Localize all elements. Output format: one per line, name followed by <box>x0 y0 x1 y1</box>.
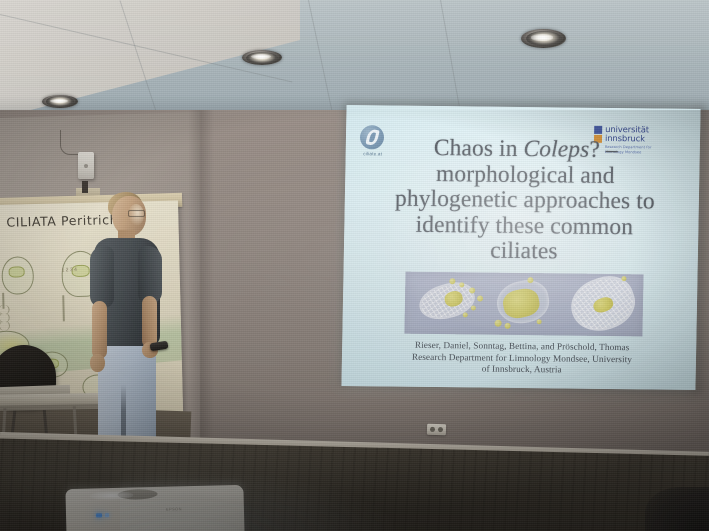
downlight-icon <box>242 50 282 65</box>
scene-vignette <box>0 110 709 531</box>
downlight-icon <box>42 95 78 108</box>
downlight-icon <box>521 29 566 48</box>
presentation-room-photo: CILIATA Peritricha Spirostomum <box>0 0 709 531</box>
